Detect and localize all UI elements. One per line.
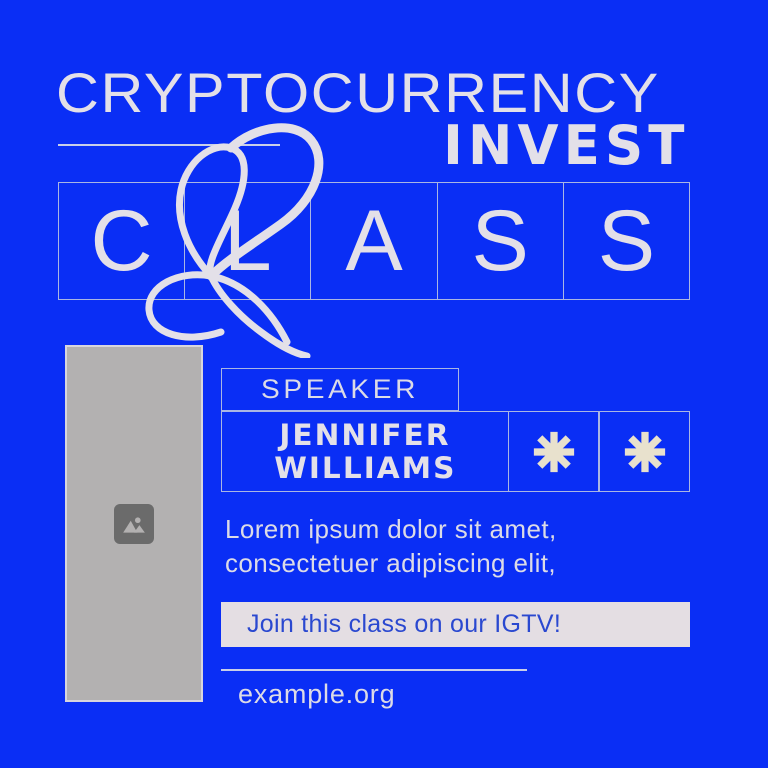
footer-website-url[interactable]: example.org — [238, 679, 395, 710]
footer-divider — [221, 669, 527, 671]
class-letter-cell: S — [438, 183, 564, 299]
cta-label: Join this class on our IGTV! — [247, 610, 561, 639]
speaker-label-box: SPEAKER — [221, 368, 459, 411]
poster-canvas: CRYPTOCURRENCY INVEST C L A S S SPEAKER … — [0, 0, 768, 768]
class-letter-cell: C — [59, 183, 185, 299]
class-letter-grid: C L A S S — [58, 182, 690, 300]
image-placeholder[interactable] — [65, 345, 203, 702]
speaker-label: SPEAKER — [261, 374, 419, 405]
speaker-name-last: WILLIAMS — [274, 452, 456, 485]
eight-point-star-icon — [622, 429, 668, 475]
star-badge-1 — [508, 411, 599, 492]
headline-divider — [58, 144, 280, 146]
speaker-name-first: JENNIFER — [279, 419, 450, 452]
star-badge-2 — [599, 411, 690, 492]
headline-invest: INVEST — [444, 117, 690, 176]
class-letter-cell: A — [311, 183, 437, 299]
image-placeholder-icon — [114, 504, 154, 544]
class-letter-cell: S — [564, 183, 689, 299]
eight-point-star-icon — [531, 429, 577, 475]
class-letter-cell: L — [185, 183, 311, 299]
speaker-name-box: JENNIFER WILLIAMS — [221, 411, 509, 492]
cta-button[interactable]: Join this class on our IGTV! — [221, 602, 690, 647]
body-copy: Lorem ipsum dolor sit amet, consectetuer… — [225, 512, 695, 580]
body-copy-line-1: Lorem ipsum dolor sit amet, — [225, 512, 695, 546]
body-copy-line-2: consectetuer adipiscing elit, — [225, 546, 695, 580]
